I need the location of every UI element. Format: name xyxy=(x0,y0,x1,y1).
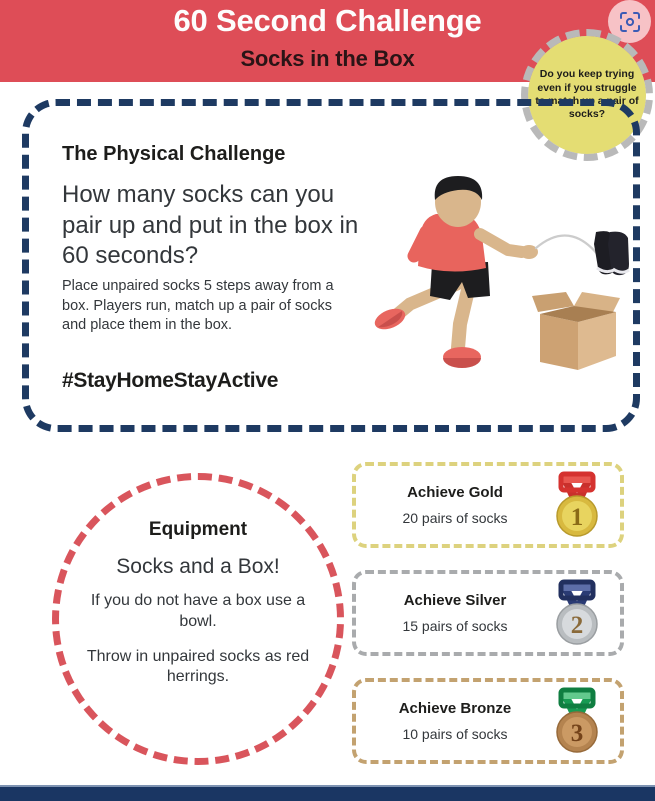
lens-scan-icon xyxy=(618,10,642,34)
equipment-note-2: Throw in unpaired socks as red herrings. xyxy=(83,647,313,689)
award-detail: 10 pairs of socks xyxy=(370,726,540,742)
award-detail: 15 pairs of socks xyxy=(370,618,540,634)
footer-bar xyxy=(0,787,655,801)
equipment-title: Equipment xyxy=(149,519,247,541)
award-detail: 20 pairs of socks xyxy=(370,510,540,526)
page-title: 60 Second Challenge xyxy=(0,3,655,39)
award-card-silver[interactable]: Achieve Silver 15 pairs of socks 2 xyxy=(352,570,624,656)
silver-medal-icon: 2 xyxy=(540,579,614,647)
award-title: Achieve Silver xyxy=(370,592,540,609)
runner-throwing-socks-into-box-illustration xyxy=(340,172,635,372)
award-text: Achieve Silver 15 pairs of socks xyxy=(356,592,540,634)
equipment-panel: Equipment Socks and a Box! If you do not… xyxy=(52,473,344,765)
award-rank: 1 xyxy=(571,504,584,531)
award-title: Achieve Bronze xyxy=(370,700,540,717)
physical-challenge-heading: The Physical Challenge xyxy=(62,143,285,166)
hashtag: #StayHomeStayActive xyxy=(62,369,278,393)
physical-challenge-lead: How many socks can you pair up and put i… xyxy=(62,180,362,272)
award-rank: 2 xyxy=(571,612,584,639)
award-card-gold[interactable]: Achieve Gold 20 pairs of socks 1 xyxy=(352,462,624,548)
equipment-subtitle: Socks and a Box! xyxy=(116,555,279,579)
award-text: Achieve Gold 20 pairs of socks xyxy=(356,484,540,526)
physical-challenge-body: Place unpaired socks 5 steps away from a… xyxy=(62,277,354,336)
award-title: Achieve Gold xyxy=(370,484,540,501)
award-card-bronze[interactable]: Achieve Bronze 10 pairs of socks 3 xyxy=(352,678,624,764)
award-rank: 3 xyxy=(571,720,584,747)
equipment-note-1: If you do not have a box use a bowl. xyxy=(88,591,308,633)
award-text: Achieve Bronze 10 pairs of socks xyxy=(356,700,540,742)
gold-medal-icon: 1 xyxy=(540,471,614,539)
bronze-medal-icon: 3 xyxy=(540,687,614,755)
